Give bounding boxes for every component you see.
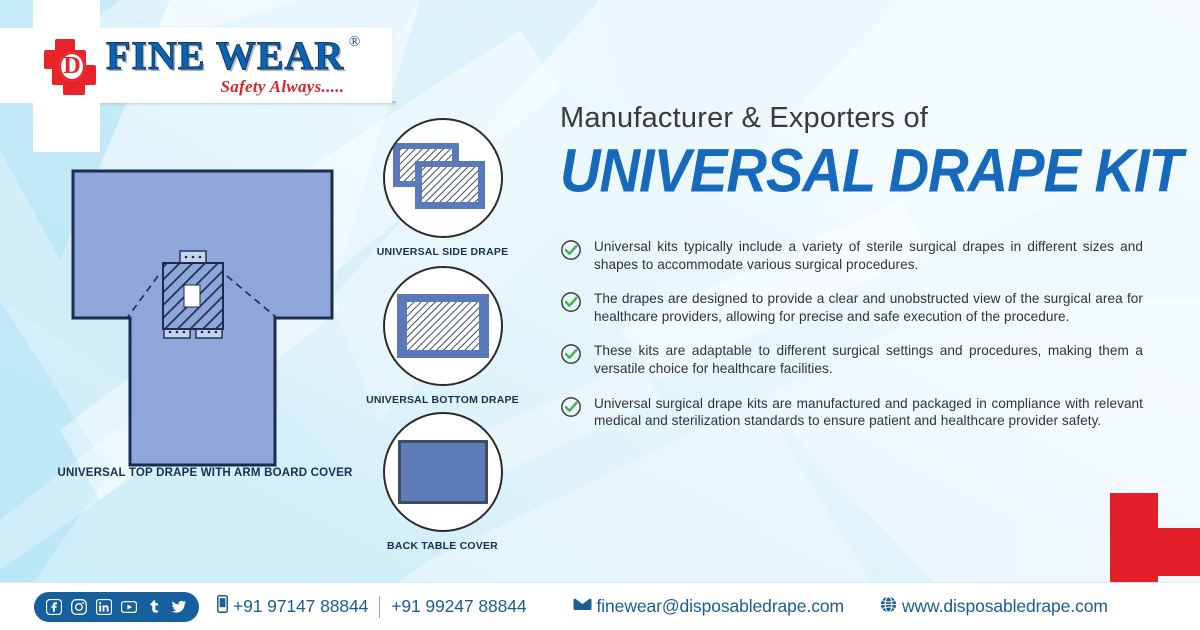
check-circle-icon [560, 396, 582, 418]
list-item-text: Universal kits typically include a varie… [594, 238, 1143, 273]
list-item: These kits are adaptable to different su… [560, 342, 1155, 377]
phone-2-text: +91 99247 88844 [391, 596, 526, 617]
email-text: finewear@disposabledrape.com [597, 596, 844, 617]
check-circle-icon [560, 239, 582, 261]
youtube-icon[interactable] [121, 599, 137, 615]
phone-2[interactable]: +91 99247 88844 [391, 596, 526, 617]
facebook-icon[interactable] [46, 599, 62, 615]
website-text: www.disposabledrape.com [902, 596, 1108, 617]
content-column: Manufacturer & Exporters of UNIVERSAL DR… [560, 100, 1155, 447]
list-item-text: Universal surgical drape kits are manufa… [594, 395, 1143, 430]
medical-cross-icon: D [36, 35, 98, 97]
tumblr-icon[interactable] [146, 599, 162, 615]
instagram-icon[interactable] [71, 599, 87, 615]
email-link[interactable]: finewear@disposabledrape.com [573, 596, 844, 617]
thumb-circle [383, 118, 503, 238]
thumb-label: BACK TABLE COVER [355, 540, 530, 552]
twitter-icon[interactable] [171, 599, 187, 615]
thumb-label: UNIVERSAL SIDE DRAPE [355, 246, 530, 258]
list-item: Universal kits typically include a varie… [560, 238, 1155, 273]
social-links [34, 592, 199, 622]
globe-icon [880, 596, 897, 618]
universal-top-drape-illustration [70, 168, 335, 468]
list-item: Universal surgical drape kits are manufa… [560, 395, 1155, 430]
red-cross-horizontal [1110, 528, 1200, 576]
back-table-cover-icon [398, 440, 488, 504]
thumb-circle [383, 266, 503, 386]
list-item: The drapes are designed to provide a cle… [560, 290, 1155, 325]
linkedin-icon[interactable] [96, 599, 112, 615]
registered-trademark-icon: ® [349, 34, 360, 51]
logo-tagline: Safety Always..... [106, 77, 344, 97]
page-title: UNIVERSAL DRAPE KIT [560, 138, 1191, 205]
product-thumb-universal-bottom-drape[interactable]: UNIVERSAL BOTTOM DRAPE [355, 266, 530, 406]
logo-wordmark: FINE WEAR [106, 36, 344, 76]
main-product-caption: UNIVERSAL TOP DRAPE WITH ARM BOARD COVER [55, 466, 355, 481]
phone-1[interactable]: +91 97147 88844 [217, 595, 368, 618]
check-circle-icon [560, 343, 582, 365]
universal-bottom-drape-icon [395, 292, 491, 360]
eyebrow-text: Manufacturer & Exporters of [560, 100, 1155, 136]
envelope-icon [573, 597, 592, 616]
list-item-text: These kits are adaptable to different su… [594, 342, 1143, 377]
check-circle-icon [560, 291, 582, 313]
product-thumb-universal-side-drape[interactable]: UNIVERSAL SIDE DRAPE [355, 118, 530, 258]
brand-logo[interactable]: D FINE WEAR ® Safety Always..... [36, 30, 388, 102]
divider [379, 596, 380, 618]
universal-side-drape-icon [389, 139, 497, 217]
product-thumb-back-table-cover[interactable]: BACK TABLE COVER [355, 412, 530, 552]
phone-icon [217, 595, 228, 618]
list-item-text: The drapes are designed to provide a cle… [594, 290, 1143, 325]
thumb-circle [383, 412, 503, 532]
logo-letter-d: D [59, 52, 85, 81]
phone-numbers: +91 97147 88844 +91 99247 88844 [217, 595, 527, 618]
footer-bar: +91 97147 88844 +91 99247 88844 finewear… [0, 582, 1200, 630]
thumb-label: UNIVERSAL BOTTOM DRAPE [355, 394, 530, 406]
website-link[interactable]: www.disposabledrape.com [880, 596, 1108, 618]
phone-1-text: +91 97147 88844 [233, 596, 368, 617]
feature-list: Universal kits typically include a varie… [560, 238, 1155, 430]
